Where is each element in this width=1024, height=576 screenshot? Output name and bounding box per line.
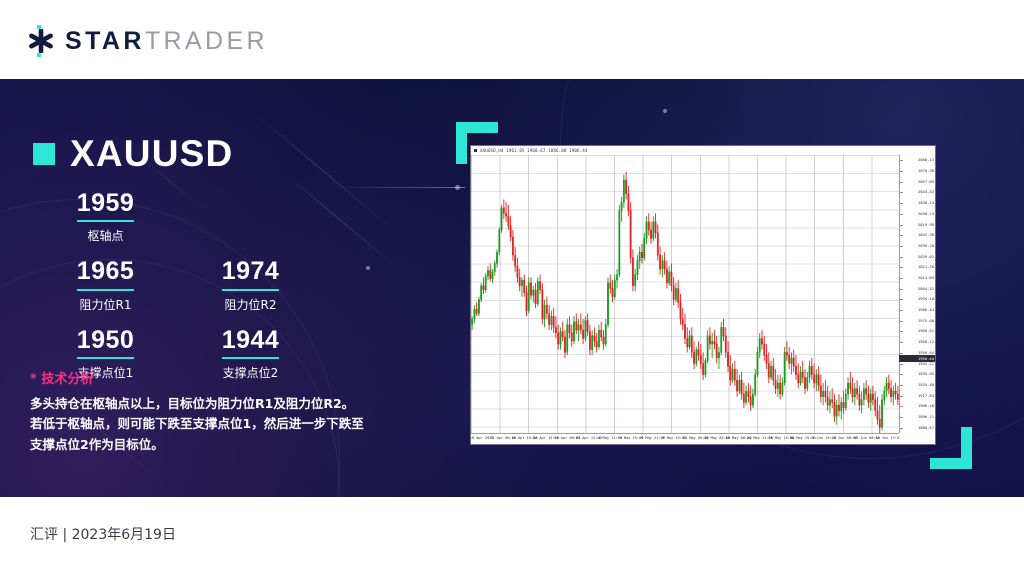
- decor-dot: [663, 109, 667, 113]
- price-tick-label: 2030.74: [918, 212, 934, 216]
- pivot-point-value: 1959: [77, 190, 135, 222]
- resistance-1-value: 1965: [77, 258, 135, 290]
- pivot-levels: 1959 枢轴点 1965 阻力位R1 1974 阻力位R2 1950 支撑点: [33, 190, 343, 395]
- header-bar: STAR TRADER: [0, 0, 1024, 79]
- price-tick-label: 1896.11: [918, 415, 934, 419]
- price-tick-label: 1888.47: [918, 426, 934, 430]
- brand-name-light: TRADER: [145, 27, 268, 56]
- resistance-1-label: 阻力位R1: [33, 296, 178, 313]
- price-tick-label: 1975.08: [918, 319, 934, 323]
- resistance-2-value: 1974: [222, 258, 280, 290]
- support-1-value: 1950: [77, 327, 135, 359]
- footer-caption: 汇评 | 2023年6月19日: [30, 524, 176, 544]
- instrument-title: XAUUSD: [33, 133, 233, 175]
- brand-logo[interactable]: STAR TRADER: [26, 26, 268, 56]
- brand-name-bold: STAR: [65, 27, 145, 56]
- support-2-value: 1944: [222, 327, 280, 359]
- price-tick-label: 2029.62: [918, 255, 934, 259]
- footer-bar: 汇评 | 2023年6月19日: [0, 497, 1024, 576]
- decor-dot: [455, 185, 460, 190]
- technical-analysis-block: * 技术分析 多头持仓在枢轴点以上，目标位为阻力位R1及阻力位R2。 若低于枢轴…: [30, 368, 400, 455]
- resistance-2-cell: 1974 阻力位R2: [178, 258, 323, 326]
- resistance-2-label: 阻力位R2: [178, 296, 323, 313]
- price-tick-label: 2036.20: [918, 244, 934, 248]
- corner-bracket-bottom-right: [930, 427, 972, 469]
- page-title: XAUUSD: [70, 133, 233, 175]
- pivot-row: 1959 枢轴点: [33, 190, 343, 258]
- time-tick-label: 1 Jun 15:00: [812, 436, 836, 440]
- price-tick-label: 2057.89: [918, 180, 934, 184]
- time-tick-label: 14 Jun 17:00: [875, 436, 899, 440]
- chart-header: XAUUSD,H4 1961.05 1968.67 1886.08 1906.4…: [471, 146, 935, 155]
- analysis-line-3: 支撑点位2作为目标位。: [30, 435, 400, 455]
- price-tick-label: 1950.44: [918, 351, 934, 355]
- asterisk-logo-icon: [26, 26, 56, 56]
- decor-line: [330, 187, 465, 188]
- candlestick-series: [471, 155, 899, 433]
- analysis-title: * 技术分析: [30, 368, 400, 387]
- analysis-line-1: 多头持仓在枢轴点以上，目标位为阻力位R1及阻力位R2。: [30, 394, 400, 414]
- price-tick-label: 2038.14: [918, 201, 934, 205]
- current-price-tag: 1950.44: [899, 355, 935, 362]
- pivot-row: 1965 阻力位R1 1974 阻力位R2: [33, 258, 343, 326]
- pivot-point-label: 枢轴点: [33, 227, 178, 244]
- price-tick-label: 2004.32: [918, 287, 934, 291]
- price-tick-label: 2014.89: [918, 276, 934, 280]
- analysis-line-2: 若低于枢轴点，则可能下跌至支撑点位1，然后进一步下跌至: [30, 414, 400, 434]
- time-tick-label: 1 May 11:00: [598, 436, 622, 440]
- price-tick-label: 1935.05: [918, 372, 934, 376]
- decor-dot: [366, 266, 370, 270]
- price-tick-label: 1906.48: [918, 404, 934, 408]
- price-tick-label: 1994.10: [918, 297, 934, 301]
- price-tick-label: 2042.38: [918, 233, 934, 237]
- chart-window[interactable]: XAUUSD,H4 1961.05 1968.67 1886.08 1906.4…: [470, 145, 936, 445]
- price-tick-label: 1958.12: [918, 340, 934, 344]
- price-tick-label: 1925.48: [918, 383, 934, 387]
- price-tick-label: 2070.38: [918, 169, 934, 173]
- price-tick-label: 1986.44: [918, 308, 934, 312]
- title-square-icon: [33, 143, 55, 165]
- time-tick-label: 5 May 21:00: [641, 436, 665, 440]
- time-axis[interactable]: 10 Apr 202311 Apr 00:0011 Apr 15:0020 Ap…: [471, 433, 899, 444]
- time-tick-label: 3 May 15:00: [620, 436, 644, 440]
- price-tick-label: 1968.51: [918, 329, 934, 333]
- price-tick-label: 2044.53: [918, 190, 934, 194]
- pivot-spacer: [178, 190, 323, 258]
- price-axis[interactable]: 2080.132070.382057.892044.532038.142030.…: [899, 155, 935, 433]
- pivot-point-cell: 1959 枢轴点: [33, 190, 178, 258]
- price-tick-label: 1917.84: [918, 394, 934, 398]
- chart-marker-icon: [474, 149, 477, 152]
- price-tick-label: 2080.13: [918, 158, 934, 162]
- resistance-1-cell: 1965 阻力位R1: [33, 258, 178, 326]
- price-tick-label: 2021.26: [918, 265, 934, 269]
- price-tick-label: 2019.99: [918, 223, 934, 227]
- chart-header-text: XAUUSD,H4 1961.05 1968.67 1886.08 1906.4…: [480, 148, 587, 153]
- slide-root: STAR TRADER XAUUSD 1959 枢轴点: [0, 0, 1024, 576]
- candlestick-plot[interactable]: [471, 155, 899, 433]
